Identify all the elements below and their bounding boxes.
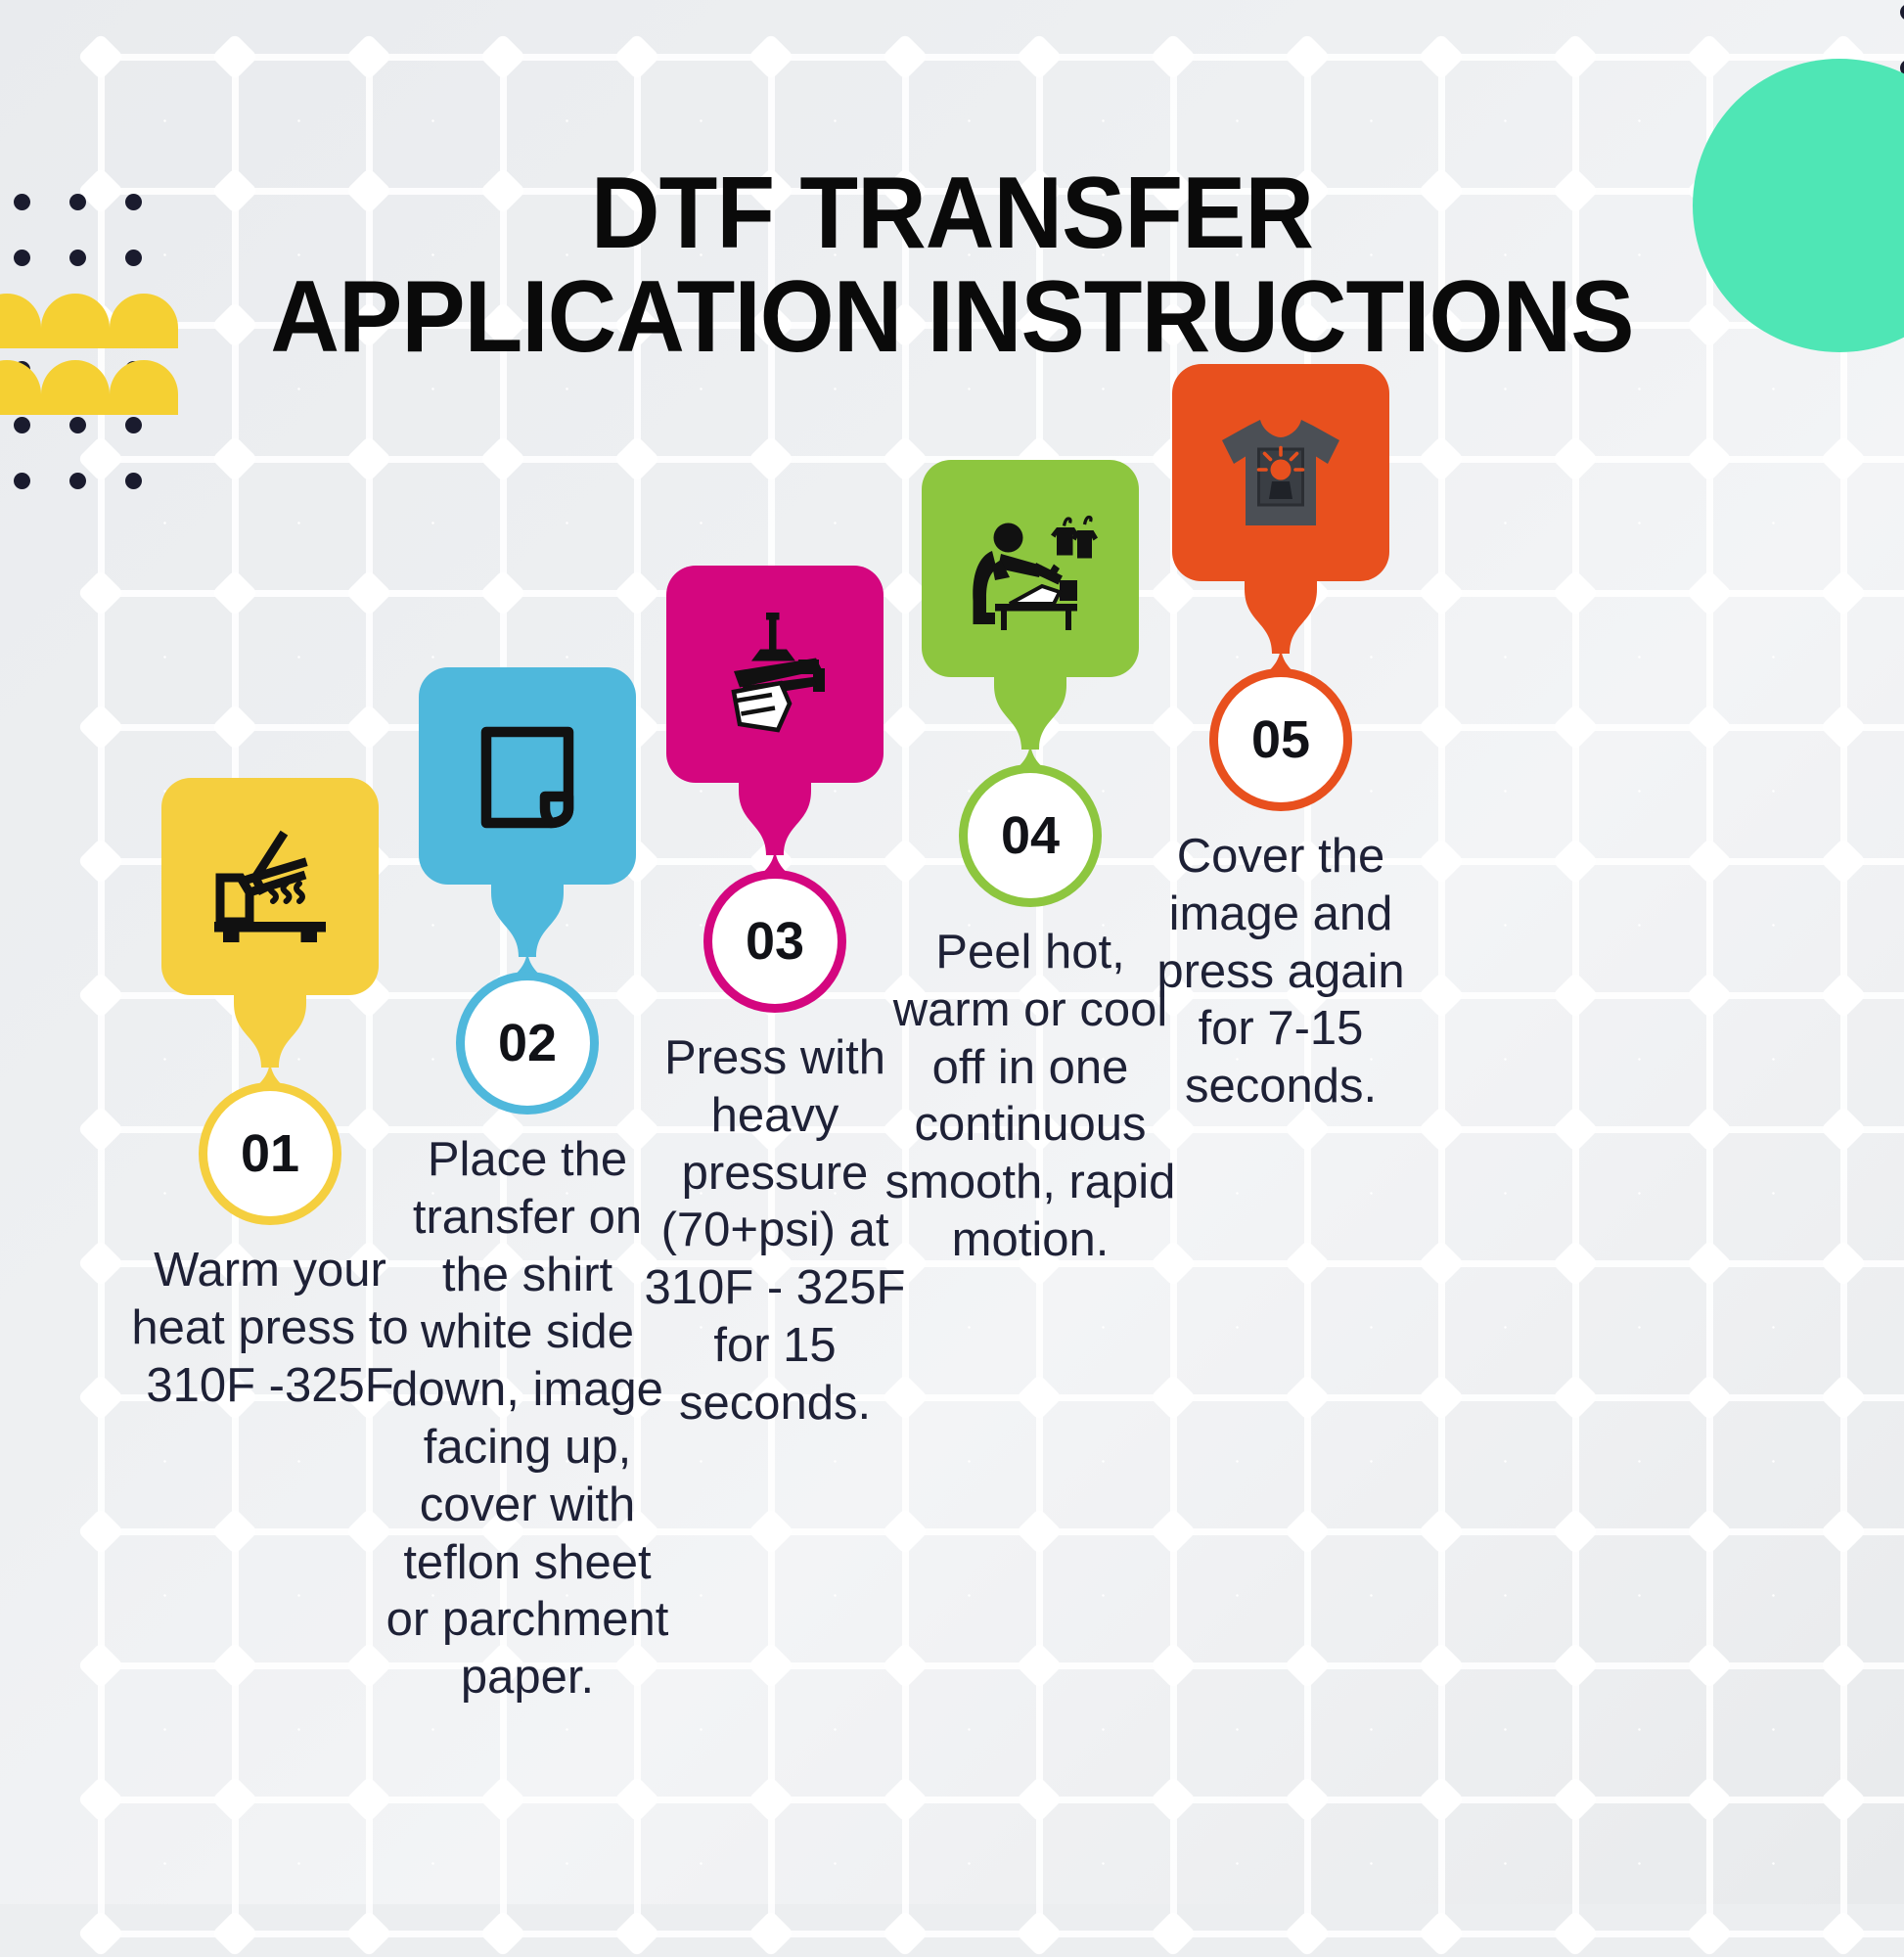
step-02-badge: 02 [465,980,590,1106]
step-05-card[interactable] [1172,364,1389,581]
step-05-description: Cover the image and press again for 7-15… [1134,828,1428,1115]
grid-junction-diamond [1284,1910,1331,1957]
grid-junction-diamond [1418,1910,1465,1957]
grid-junction-diamond [1552,1910,1599,1957]
grid-junction-diamond [748,1910,794,1957]
step-03-number: 03 [746,911,804,972]
step-02-card[interactable] [419,667,636,885]
step-02-number: 02 [498,1013,557,1073]
step-03: 03 Press with heavy pressure (70+psi) at… [666,566,884,1433]
transfer-sheet-icon [454,703,601,849]
pressing-machine-icon [702,601,848,748]
grid-junction-diamond [345,1910,392,1957]
step-04: 04 Peel hot, warm or cool off in one con… [922,460,1139,1269]
step-05: 05 Cover the image and press again for 7… [1172,364,1389,1115]
step-04-badge: 04 [968,773,1093,898]
peeling-worker-icon [957,495,1104,642]
grid-junction-diamond [1820,1910,1867,1957]
grid-junction-diamond [479,1910,526,1957]
step-03-description: Press with heavy pressure (70+psi) at 31… [628,1029,922,1433]
step-01-badge: 01 [207,1091,333,1216]
step-04-card[interactable] [922,460,1139,677]
step-05-badge: 05 [1218,677,1343,802]
step-01-number: 01 [241,1123,299,1184]
step-04-description: Peel hot, warm or cool off in one contin… [884,924,1177,1269]
printed-tshirt-icon [1207,399,1354,546]
grid-junction-diamond [1150,1910,1197,1957]
step-01: 01 Warm your heat press to 310F -325F [161,778,379,1414]
step-01-card[interactable] [161,778,379,995]
grid-junction-diamond [1016,1910,1063,1957]
step-02: 02 Place the transfer on the shirt white… [419,667,636,1707]
step-03-badge: 03 [712,879,838,1004]
heat-press-icon [197,813,343,960]
grid-junction-diamond [211,1910,258,1957]
grid-junction-diamond [613,1910,660,1957]
steps-container: 01 Warm your heat press to 310F -325F 02 [0,0,1904,1904]
step-01-description: Warm your heat press to 310F -325F [123,1242,417,1414]
step-03-card[interactable] [666,566,884,783]
step-05-number: 05 [1251,709,1310,770]
step-04-number: 04 [1001,805,1060,866]
grid-junction-diamond [77,1910,124,1957]
grid-junction-diamond [1686,1910,1733,1957]
grid-junction-diamond [882,1910,929,1957]
